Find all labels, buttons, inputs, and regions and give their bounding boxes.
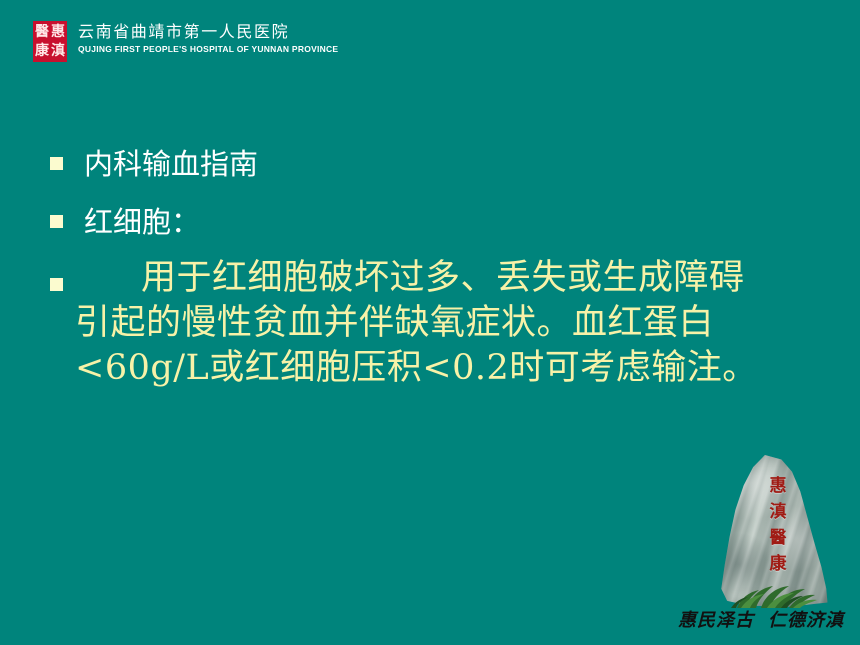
bullet-square-icon [50,215,63,228]
monument-motto: 惠民泽古仁德济滇 [661,610,860,632]
bullet-item: 内科输血指南 [0,142,860,186]
hospital-name-cn: 云南省曲靖市第一人民医院 [78,22,338,42]
seal-char-4: 滇 [50,42,66,62]
hospital-brand: 醫 惠 康 滇 云南省曲靖市第一人民医院 QUJING FIRST PEOPLE… [33,21,338,62]
carved-char-4: 康 [770,551,787,577]
stone-monument-image: 惠 滇 醫 康 惠民泽古仁德济滇 [713,455,831,615]
seal-char-3: 康 [34,42,50,62]
carved-char-3: 醫 [770,525,787,551]
bullet-item: 用于红细胞破坏过多、丢失或生成障碍引起的慢性贫血并伴缺氧症状。血红蛋白<60g/… [0,256,860,391]
bullet-item: 红细胞： [0,200,860,244]
slide-header: 醫 惠 康 滇 云南省曲靖市第一人民医院 QUJING FIRST PEOPLE… [0,0,860,76]
motto-left: 惠民泽古 [678,610,754,631]
hospital-name-block: 云南省曲靖市第一人民医院 QUJING FIRST PEOPLE'S HOSPI… [78,21,338,55]
carved-char-1: 惠 [770,473,787,499]
bullet-label: 内科输血指南 [84,142,258,186]
bullet-paragraph-text: 用于红细胞破坏过多、丢失或生成障碍引起的慢性贫血并伴缺氧症状。血红蛋白<60g/… [75,258,758,388]
slide-body: 内科输血指南 红细胞： 用于红细胞破坏过多、丢失或生成障碍引起的慢性贫血并伴缺氧… [0,142,860,391]
stone-carved-inscription: 惠 滇 醫 康 [765,473,791,577]
bullet-label: 红细胞： [84,200,200,244]
bullet-square-icon [50,278,63,291]
foliage-icon [727,578,819,608]
hospital-seal-logo: 醫 惠 康 滇 [33,21,67,62]
slide-canvas: { "slide": { "background_color": "#00847… [0,0,860,645]
motto-right: 仁德济滇 [768,610,844,631]
carved-char-2: 滇 [770,499,787,525]
bullet-square-icon [50,157,63,170]
hospital-name-en: QUJING FIRST PEOPLE'S HOSPITAL OF YUNNAN… [78,43,338,55]
bullet-paragraph: 用于红细胞破坏过多、丢失或生成障碍引起的慢性贫血并伴缺氧症状。血红蛋白<60g/… [75,256,775,391]
seal-char-1: 醫 [34,22,50,42]
seal-char-2: 惠 [50,22,66,42]
